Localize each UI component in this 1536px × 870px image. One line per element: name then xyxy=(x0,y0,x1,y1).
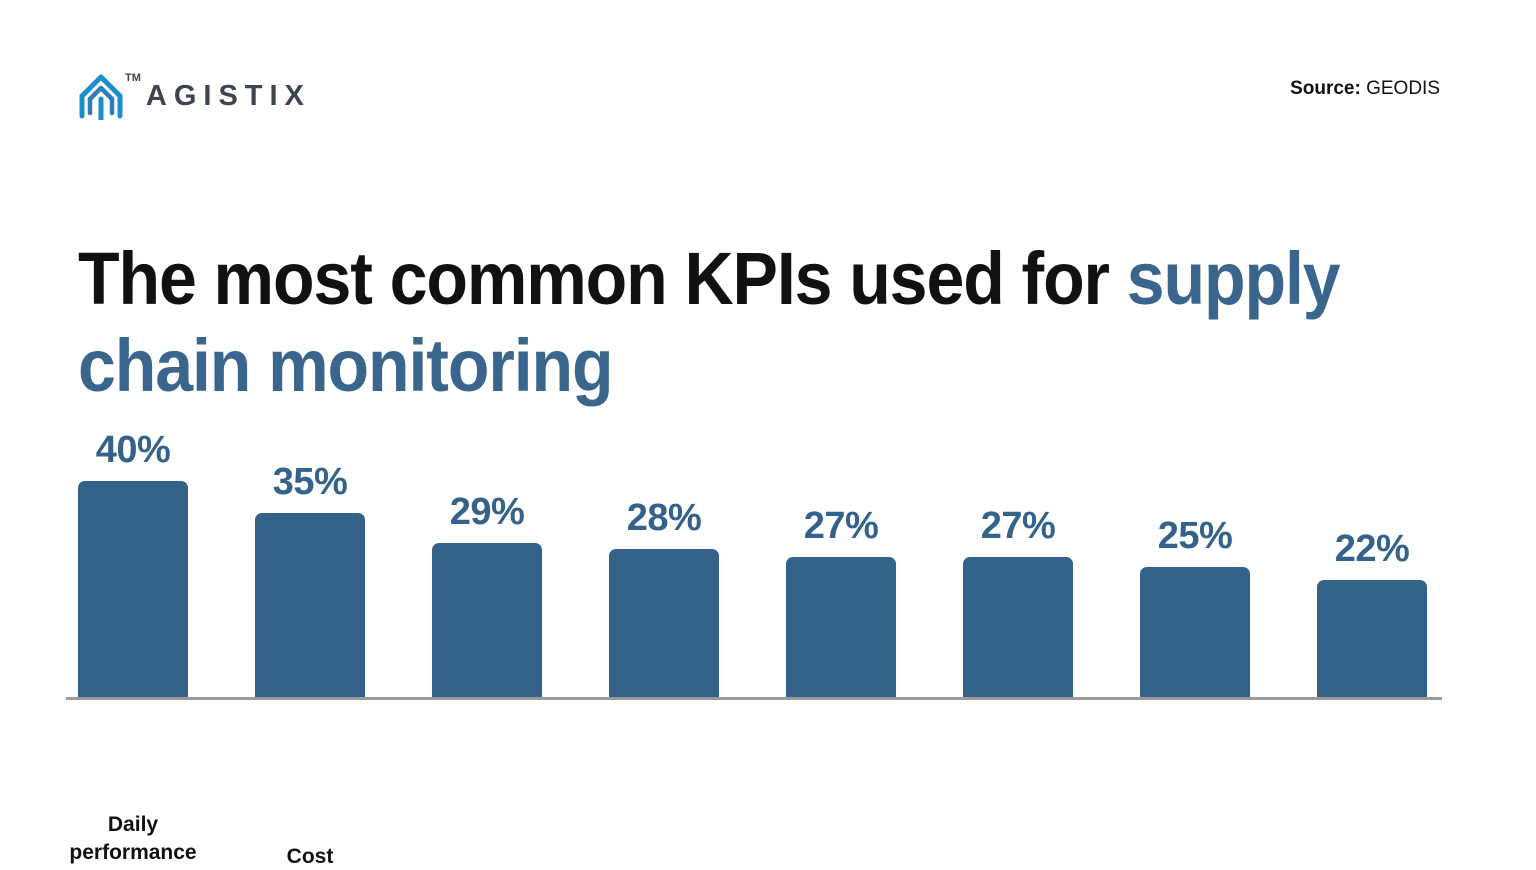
bar-rect[interactable] xyxy=(1140,567,1250,698)
bar-category-label-line1: Cost xyxy=(217,843,403,870)
bar-rect[interactable] xyxy=(786,557,896,698)
page-title: The most common KPIs used for supplychai… xyxy=(78,235,1348,410)
bar-value-label: 29% xyxy=(404,493,570,531)
source-label: Source: xyxy=(1290,78,1361,99)
bar-group: 35%Costreduction xyxy=(255,513,365,698)
chart-plot-area: 40%Dailyperformance35%Costreduction29%Pr… xyxy=(66,400,1442,698)
agistix-nested-arch-logo-icon xyxy=(78,72,124,120)
title-segment-accent-2: chain monitoring xyxy=(78,324,613,407)
bar-rect[interactable] xyxy=(78,481,188,698)
bar-category-label: Costreduction xyxy=(217,843,403,870)
bar-value-label: 27% xyxy=(935,507,1101,545)
bar-category-label-line1: Daily xyxy=(40,811,226,839)
bar-rect[interactable] xyxy=(255,513,365,698)
brand-logo[interactable]: TM AGISTIX xyxy=(78,68,311,124)
bar-rect[interactable] xyxy=(1317,580,1427,698)
bar-group: 22%ROA xyxy=(1317,580,1427,698)
bar-group: 28%Inventoryturn xyxy=(609,549,719,698)
trademark-symbol: TM xyxy=(125,72,141,84)
chart-baseline-axis xyxy=(66,697,1442,700)
bar-category-label-line2: performance xyxy=(40,839,226,867)
bar-chart: 40%Dailyperformance35%Costreduction29%Pr… xyxy=(0,400,1536,820)
title-segment-accent-1: supply xyxy=(1127,237,1340,320)
bar-value-label: 27% xyxy=(758,507,924,545)
brand-wordmark: AGISTIX xyxy=(146,82,311,111)
bar-group: 27%Productiontime xyxy=(786,557,896,698)
header: TM AGISTIX Source: GEODIS xyxy=(0,0,1536,150)
infographic-page: TM AGISTIX Source: GEODIS The most commo… xyxy=(0,0,1536,870)
bar-rect[interactable] xyxy=(432,543,542,698)
title-segment-black: The most common KPIs used for xyxy=(78,237,1127,320)
bar-group: 27%Lead time xyxy=(963,557,1073,698)
bar-value-label: 28% xyxy=(581,499,747,537)
source-note: Source: GEODIS xyxy=(1290,78,1440,100)
bar-rect[interactable] xyxy=(963,557,1073,698)
bar-value-label: 22% xyxy=(1289,530,1455,568)
bar-rect[interactable] xyxy=(609,549,719,698)
bar-group: 40%Dailyperformance xyxy=(78,481,188,698)
bar-group: 29%Productionservice rate xyxy=(432,543,542,698)
bar-group: 25%Return rate xyxy=(1140,567,1250,698)
bar-value-label: 25% xyxy=(1112,517,1278,555)
source-value: GEODIS xyxy=(1361,78,1440,99)
bar-category-label: Dailyperformance xyxy=(40,811,226,866)
bar-value-label: 35% xyxy=(227,463,393,501)
bar-value-label: 40% xyxy=(50,431,216,469)
